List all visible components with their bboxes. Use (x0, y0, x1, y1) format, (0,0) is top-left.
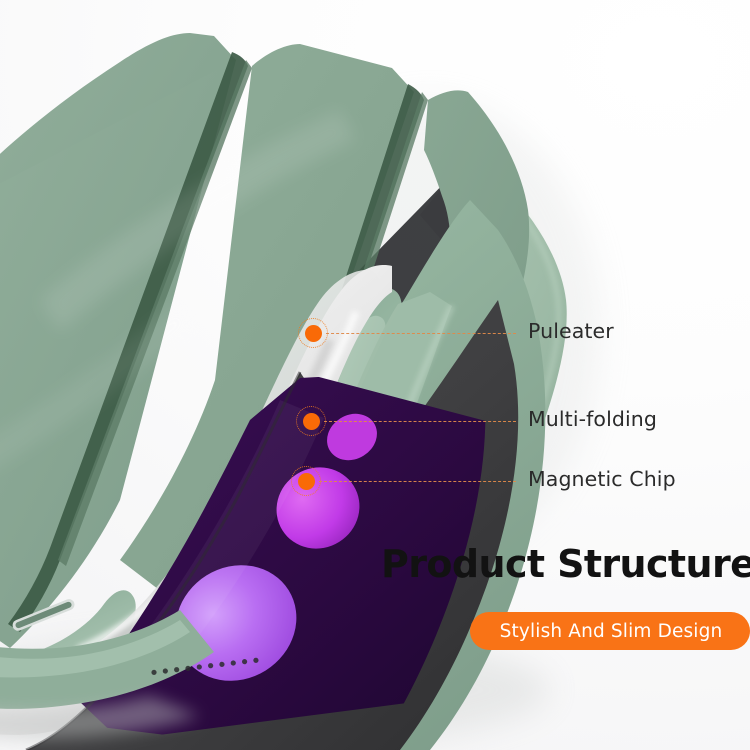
callout-dot-core (305, 325, 322, 342)
callout-dot-puleater[interactable] (298, 318, 328, 348)
callout-label-multi-folding: Multi-folding (528, 409, 657, 430)
callout-dot-core (298, 473, 315, 490)
product-structure-image: Puleater Multi-folding Magnetic Chip Pro… (0, 0, 750, 750)
callout-leader-line (319, 481, 516, 482)
page-title: Product Structure (381, 545, 750, 583)
callout-label-magnetic-chip: Magnetic Chip (528, 469, 676, 490)
callout-leader-line (324, 421, 516, 422)
callout-leader-line (326, 333, 516, 334)
callout-label-puleater: Puleater (528, 321, 614, 342)
callout-dot-multi-folding[interactable] (296, 406, 326, 436)
tagline-badge: Stylish And Slim Design (470, 612, 750, 650)
callout-dot-magnetic-chip[interactable] (291, 466, 321, 496)
callout-dot-core (303, 413, 320, 430)
